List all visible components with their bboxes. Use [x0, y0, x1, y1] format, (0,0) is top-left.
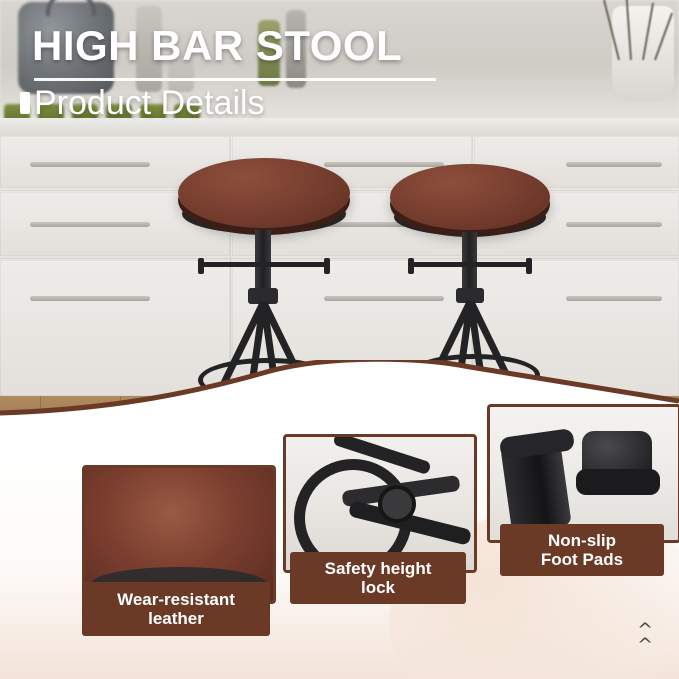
- feature-panel: Wear-resistant leather Safety height loc…: [0, 430, 679, 679]
- feature-card-non-slip-foot-pads: [487, 404, 679, 543]
- feature-label-text-1: Wear-resistant leather: [117, 590, 235, 628]
- subtitle-tick-mark: [20, 92, 30, 114]
- feature-label-safety-height-lock: Safety height lock: [290, 552, 466, 604]
- cabinet-handle: [30, 296, 150, 301]
- feature-label-text-3: Non-slip Foot Pads: [541, 531, 623, 569]
- cabinet-handle: [30, 162, 150, 167]
- twigs-decor-icon: [600, 0, 679, 60]
- title-underline: [34, 78, 436, 81]
- product-detail-image: HIGH BAR STOOL Product Details Wear-resi…: [0, 0, 679, 679]
- page-title: HIGH BAR STOOL: [32, 22, 402, 70]
- cabinet-handle: [30, 222, 150, 227]
- page-subtitle: Product Details: [34, 84, 265, 123]
- scroll-up-chevrons-icon[interactable]: ^^: [637, 623, 653, 653]
- cabinet-handle: [566, 222, 662, 227]
- feature-label-non-slip-foot-pads: Non-slip Foot Pads: [500, 524, 664, 576]
- feature-label-wear-resistant-leather: Wear-resistant leather: [82, 582, 270, 636]
- feature-label-text-2: Safety height lock: [325, 559, 432, 597]
- cabinet-handle: [566, 162, 662, 167]
- cabinet-handle: [566, 296, 662, 301]
